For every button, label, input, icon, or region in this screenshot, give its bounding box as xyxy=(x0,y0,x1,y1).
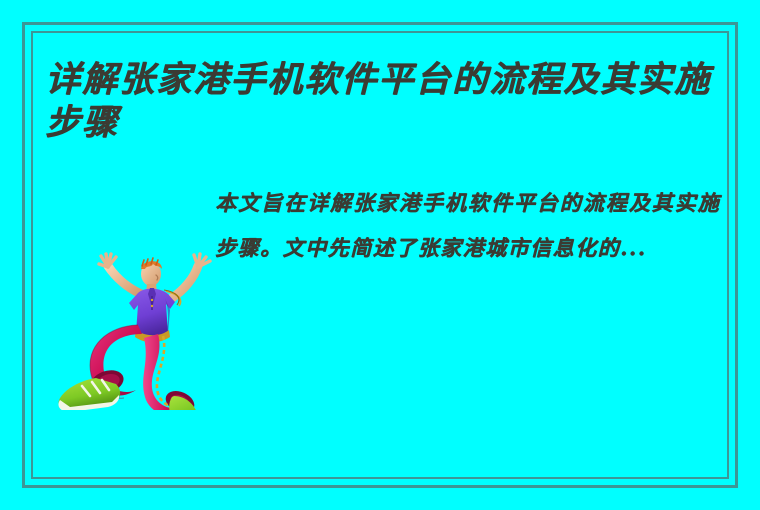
head xyxy=(141,258,162,286)
article-title: 详解张家港手机软件平台的流程及其实施步骤 xyxy=(45,58,735,144)
article-summary: 本文旨在详解张家港手机软件平台的流程及其实施步骤。文中先简述了张家港城市信息化的… xyxy=(215,180,720,270)
left-arm xyxy=(99,254,141,294)
jumping-person-illustration xyxy=(46,230,222,410)
left-shoe xyxy=(58,378,120,410)
right-arm xyxy=(172,254,210,298)
article-card: 详解张家港手机软件平台的流程及其实施步骤 本文旨在详解张家港手机软件平台的流程及… xyxy=(0,0,760,510)
